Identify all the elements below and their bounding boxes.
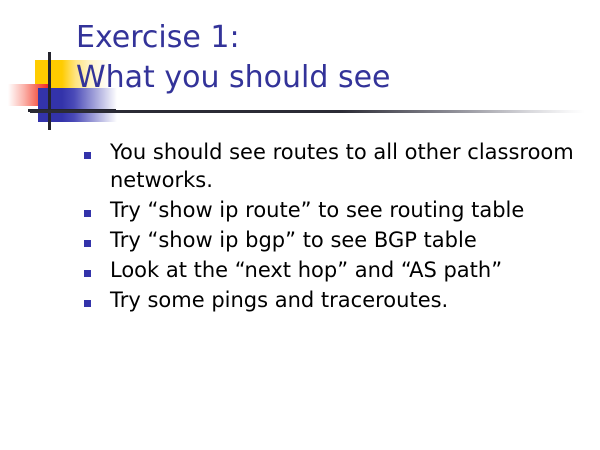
yellow-square-icon <box>35 60 62 88</box>
bullet-square-icon <box>84 240 91 247</box>
list-item: Look at the “next hop” and “AS path” <box>84 256 584 284</box>
bullet-square-icon <box>84 270 91 277</box>
page-title: Exercise 1: What you should see <box>76 18 586 98</box>
title-divider <box>30 110 585 113</box>
list-item-label: You should see routes to all other class… <box>110 138 584 194</box>
red-gradient-square-icon <box>8 84 50 106</box>
list-item-label: Try “show ip bgp” to see BGP table <box>110 226 584 254</box>
bullet-list: You should see routes to all other class… <box>84 138 584 316</box>
bullet-square-icon <box>84 152 91 159</box>
page-title-line-1: Exercise 1: <box>76 18 586 58</box>
bullet-square-icon <box>84 300 91 307</box>
list-item-label: Look at the “next hop” and “AS path” <box>110 256 584 284</box>
slide-canvas: Exercise 1: What you should see You shou… <box>0 0 600 450</box>
blue-square-icon <box>38 88 62 122</box>
list-item: You should see routes to all other class… <box>84 138 584 194</box>
list-item: Try some pings and traceroutes. <box>84 286 584 314</box>
list-item: Try “show ip bgp” to see BGP table <box>84 226 584 254</box>
vertical-rule-icon <box>48 52 51 130</box>
list-item-label: Try “show ip route” to see routing table <box>110 196 584 224</box>
list-item: Try “show ip route” to see routing table <box>84 196 584 224</box>
page-title-line-2: What you should see <box>76 58 586 98</box>
list-item-label: Try some pings and traceroutes. <box>110 286 584 314</box>
bullet-square-icon <box>84 210 91 217</box>
